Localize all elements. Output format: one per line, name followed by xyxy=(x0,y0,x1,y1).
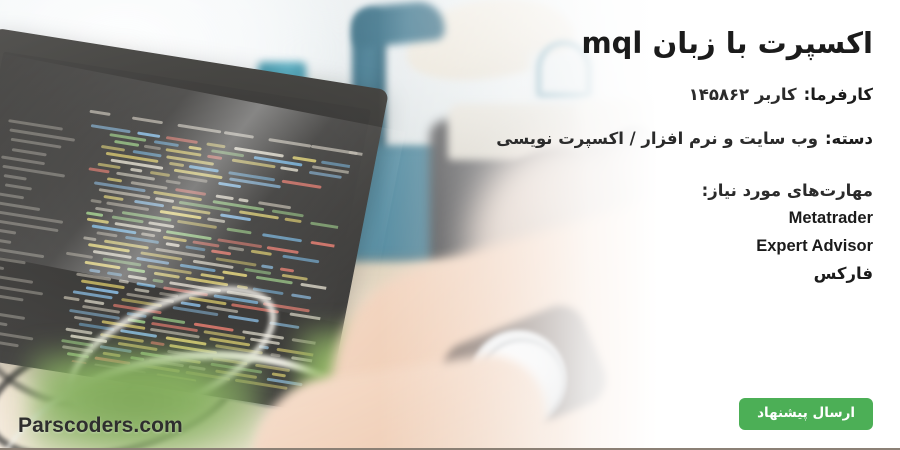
list-item[interactable]: Metatrader xyxy=(500,204,873,232)
site-watermark: Parscoders.com xyxy=(18,414,183,438)
page-title: اکسپرت با زبان mql xyxy=(500,0,873,61)
skill-label: Metatrader xyxy=(789,209,873,227)
submit-proposal-button[interactable]: ارسال پیشنهاد xyxy=(739,398,873,430)
skill-label: فارکس xyxy=(814,264,873,283)
skills-list: Metatrader Expert Advisor فارکس xyxy=(500,204,873,288)
category-value[interactable]: وب سایت و نرم افزار / اکسپرت نویسی xyxy=(496,129,818,148)
project-info-panel: اکسپرت با زبان mql کارفرما:کاربر ۱۴۵۸۶۲ … xyxy=(500,0,900,450)
employer-label: کارفرما: xyxy=(804,85,873,104)
employer-value: کاربر ۱۴۵۸۶۲ xyxy=(689,85,797,104)
list-item[interactable]: فارکس xyxy=(500,260,873,287)
skill-label: Expert Advisor xyxy=(756,237,873,255)
project-banner-card: Parscoders.com اکسپرت با زبان mql کارفرم… xyxy=(0,0,900,450)
cta-container: ارسال پیشنهاد xyxy=(739,398,873,430)
list-item[interactable]: Expert Advisor xyxy=(500,232,873,260)
skills-heading: مهارت‌های مورد نیاز: xyxy=(500,178,873,204)
employer-row: کارفرما:کاربر ۱۴۵۸۶۲ xyxy=(500,61,873,104)
skills-section: مهارت‌های مورد نیاز: Metatrader Expert A… xyxy=(500,148,873,287)
category-label: دسته: xyxy=(825,129,873,148)
category-row: دسته:وب سایت و نرم افزار / اکسپرت نویسی xyxy=(500,104,873,148)
